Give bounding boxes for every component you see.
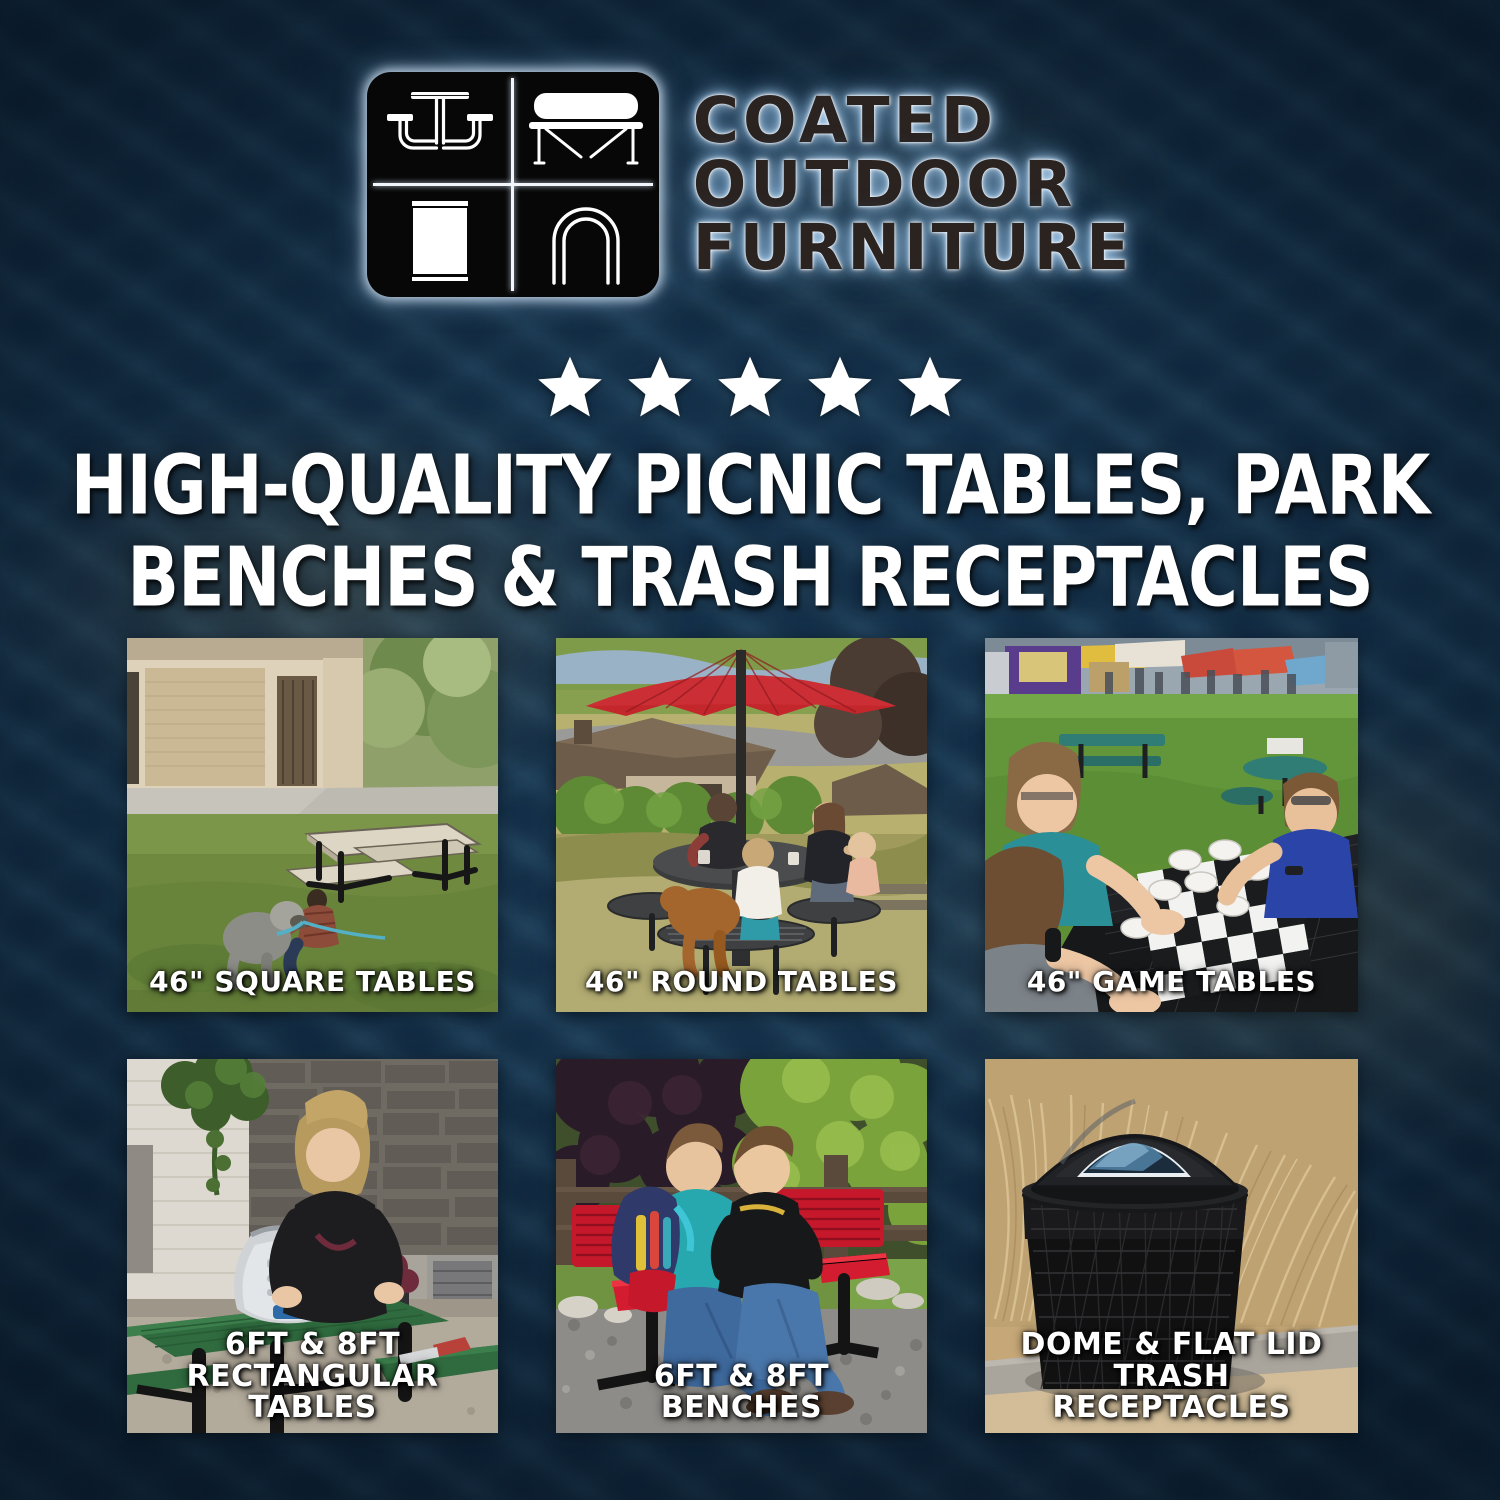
- product-caption-line-1: 46" SQUARE TABLES: [149, 965, 476, 998]
- product-grid: 46" SQUARE TABLES: [127, 638, 1373, 1433]
- product-photo-square-tables: [127, 638, 498, 1012]
- product-caption-line-2: BENCHES: [562, 1392, 921, 1423]
- star-icon: [624, 352, 696, 422]
- star-icon: [714, 352, 786, 422]
- product-tile-rectangular-tables[interactable]: 6FT & 8FT RECTANGULAR TABLES: [127, 1059, 498, 1433]
- product-caption: 46" GAME TABLES: [985, 967, 1358, 996]
- product-caption: 6FT & 8FT RECTANGULAR TABLES: [127, 1329, 498, 1423]
- product-tile-square-tables[interactable]: 46" SQUARE TABLES: [127, 638, 498, 1012]
- product-photo-round-tables: [556, 638, 927, 1012]
- brand-line-3: FURNITURE: [693, 217, 1134, 279]
- product-caption-line-1: 46" ROUND TABLES: [585, 965, 898, 998]
- logo-mark: [367, 72, 659, 297]
- product-caption: 6FT & 8FT BENCHES: [556, 1361, 927, 1423]
- star-icon: [804, 352, 876, 422]
- headline-line-1: HIGH-QUALITY PICNIC TABLES, PARK: [60, 445, 1440, 529]
- product-caption: 46" SQUARE TABLES: [127, 967, 498, 996]
- product-tile-round-tables[interactable]: 46" ROUND TABLES: [556, 638, 927, 1012]
- product-caption-line-1: 6FT & 8FT: [225, 1327, 400, 1362]
- product-tile-benches[interactable]: 6FT & 8FT BENCHES: [556, 1059, 927, 1433]
- product-caption-line-2: TRASH RECEPTACLES: [991, 1361, 1352, 1423]
- brand-wordmark: COATED OUTDOOR FURNITURE: [693, 90, 1134, 279]
- page-headline: HIGH-QUALITY PICNIC TABLES, PARK BENCHES…: [60, 445, 1440, 607]
- bike-rack-icon: [513, 185, 659, 298]
- trash-receptacle-icon: [367, 185, 513, 298]
- product-tile-game-tables[interactable]: 46" GAME TABLES: [985, 638, 1358, 1012]
- product-caption-line-1: 46" GAME TABLES: [1027, 965, 1316, 998]
- park-bench-icon: [513, 72, 659, 185]
- product-tile-trash-receptacles[interactable]: DOME & FLAT LID TRASH RECEPTACLES: [985, 1059, 1358, 1433]
- headline-line-2: BENCHES & TRASH RECEPTACLES: [60, 537, 1440, 621]
- product-caption-line-2: RECTANGULAR TABLES: [133, 1361, 492, 1423]
- brand-logo: COATED OUTDOOR FURNITURE: [0, 72, 1500, 297]
- star-rating: [0, 352, 1500, 422]
- brand-line-2: OUTDOOR: [693, 154, 1134, 216]
- product-caption-line-1: DOME & FLAT LID: [1021, 1327, 1323, 1362]
- star-icon: [534, 352, 606, 422]
- product-caption-line-1: 6FT & 8FT: [654, 1359, 829, 1394]
- picnic-table-icon: [367, 72, 513, 185]
- brand-line-1: COATED: [693, 90, 1134, 152]
- product-caption: DOME & FLAT LID TRASH RECEPTACLES: [985, 1329, 1358, 1423]
- star-icon: [894, 352, 966, 422]
- product-photo-game-tables: [985, 638, 1358, 1012]
- product-caption: 46" ROUND TABLES: [556, 967, 927, 996]
